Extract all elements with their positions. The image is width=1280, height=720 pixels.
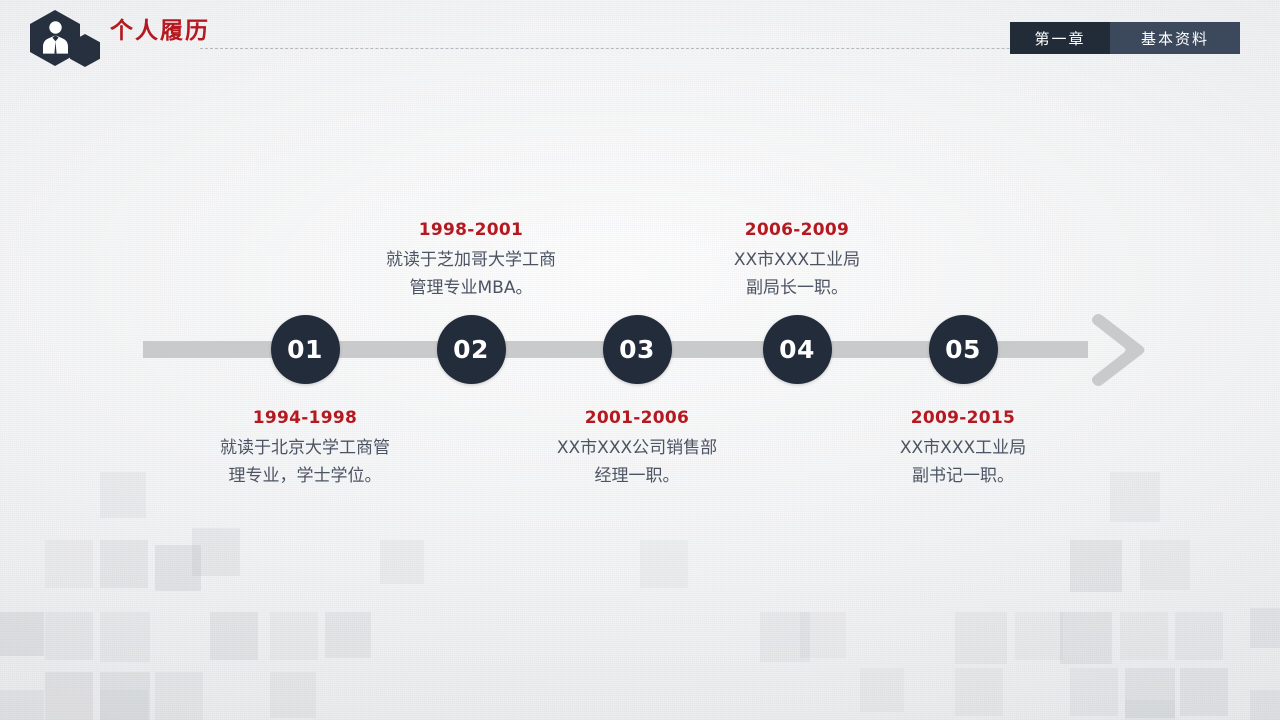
- timeline-entry-line: 就读于芝加哥大学工商: [321, 247, 621, 275]
- decor-square: [1015, 612, 1063, 660]
- decor-square: [100, 690, 148, 720]
- timeline-entry-years: 2009-2015: [813, 408, 1113, 428]
- timeline-entry-line: XX市XXX工业局: [647, 247, 947, 275]
- slide-canvas: 个人履历 第一章 基本资料 0102030405 1994-1998就读于北京大…: [0, 0, 1280, 720]
- decor-square: [325, 612, 371, 658]
- decor-square: [45, 540, 93, 588]
- timeline-entry-description: XX市XXX工业局副局长一职。: [647, 247, 947, 302]
- decor-square: [0, 612, 44, 656]
- timeline-node-03[interactable]: 03: [603, 315, 672, 384]
- decor-square: [800, 612, 846, 658]
- timeline-entry-line: 管理专业MBA。: [321, 275, 621, 303]
- timeline-node-01[interactable]: 01: [271, 315, 340, 384]
- businessman-icon: [42, 20, 69, 54]
- decor-square: [270, 612, 318, 660]
- page-title: 个人履历: [110, 20, 210, 43]
- decor-square: [0, 690, 44, 720]
- decor-square: [1110, 472, 1160, 522]
- decor-square: [192, 528, 240, 576]
- timeline-entry-years: 1994-1998: [155, 408, 455, 428]
- timeline-entry-line: 副局长一职。: [647, 275, 947, 303]
- decor-square: [640, 540, 688, 588]
- chapter-tabbar: 第一章 基本资料: [1010, 22, 1240, 54]
- decor-square: [955, 612, 1007, 664]
- decor-square: [860, 668, 904, 712]
- timeline-entry-description: XX市XXX工业局副书记一职。: [813, 435, 1113, 490]
- decor-square: [100, 672, 150, 720]
- right-arrow-icon: [1036, 311, 1148, 389]
- decor-square: [1140, 540, 1190, 590]
- timeline-entry-02: 1998-2001就读于芝加哥大学工商管理专业MBA。: [321, 220, 621, 302]
- decor-square: [1060, 612, 1112, 664]
- timeline-node-02[interactable]: 02: [437, 315, 506, 384]
- decor-square: [1250, 690, 1280, 720]
- timeline-entry-line: XX市XXX公司销售部: [487, 435, 787, 463]
- decor-square: [45, 672, 93, 720]
- decor-square: [100, 472, 146, 518]
- decor-square: [100, 612, 150, 662]
- timeline-entry-description: XX市XXX公司销售部经理一职。: [487, 435, 787, 490]
- timeline-node-number: 05: [945, 335, 981, 364]
- timeline-entry-line: 理专业，学士学位。: [155, 463, 455, 491]
- decor-square: [1120, 612, 1168, 660]
- timeline-entry-line: 经理一职。: [487, 463, 787, 491]
- decor-square: [45, 612, 93, 660]
- timeline-node-number: 03: [619, 335, 655, 364]
- decor-square: [155, 672, 203, 720]
- decor-square: [1180, 668, 1228, 716]
- decor-square: [1070, 668, 1118, 716]
- timeline-entry-description: 就读于北京大学工商管理专业，学士学位。: [155, 435, 455, 490]
- header-logo: [12, 9, 102, 61]
- decor-square: [155, 545, 201, 591]
- timeline-entry-line: 就读于北京大学工商管: [155, 435, 455, 463]
- decor-square: [1250, 608, 1280, 648]
- decor-square: [1070, 540, 1122, 592]
- timeline-entry-01: 1994-1998就读于北京大学工商管理专业，学士学位。: [155, 408, 455, 490]
- timeline-entry-line: 副书记一职。: [813, 463, 1113, 491]
- decor-square: [1125, 668, 1175, 718]
- decor-square: [1125, 700, 1175, 720]
- tab-chapter-number[interactable]: 第一章: [1010, 22, 1110, 54]
- decor-square: [270, 672, 316, 718]
- decor-square: [760, 612, 810, 662]
- timeline-entry-years: 2001-2006: [487, 408, 787, 428]
- timeline-entry-05: 2009-2015XX市XXX工业局副书记一职。: [813, 408, 1113, 490]
- decor-square: [100, 540, 148, 588]
- decor-square: [380, 540, 424, 584]
- timeline-entry-description: 就读于芝加哥大学工商管理专业MBA。: [321, 247, 621, 302]
- decor-square: [1175, 612, 1223, 660]
- timeline-node-number: 02: [453, 335, 489, 364]
- tab-chapter-title[interactable]: 基本资料: [1110, 22, 1240, 54]
- timeline-node-05[interactable]: 05: [929, 315, 998, 384]
- timeline-entry-years: 2006-2009: [647, 220, 947, 240]
- timeline-entry-03: 2001-2006XX市XXX公司销售部经理一职。: [487, 408, 787, 490]
- decor-square: [955, 668, 1003, 716]
- decor-square: [210, 612, 258, 660]
- timeline-entry-04: 2006-2009XX市XXX工业局副局长一职。: [647, 220, 947, 302]
- timeline-entry-years: 1998-2001: [321, 220, 621, 240]
- timeline-node-number: 01: [287, 335, 323, 364]
- timeline-node-04[interactable]: 04: [763, 315, 832, 384]
- timeline-node-number: 04: [779, 335, 815, 364]
- timeline-entry-line: XX市XXX工业局: [813, 435, 1113, 463]
